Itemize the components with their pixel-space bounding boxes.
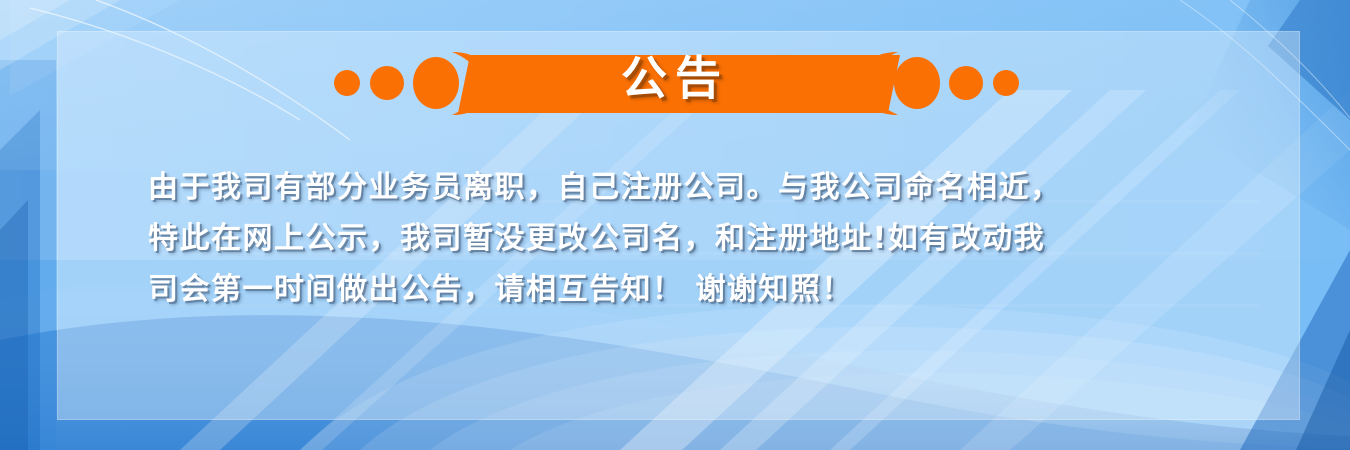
page-title: 公告 (0, 44, 1350, 124)
announcement-line: 由于我司有部分业务员离职，自己注册公司。与我公司命名相近， (148, 162, 1228, 213)
announcement-banner-image: 公告 由于我司有部分业务员离职，自己注册公司。与我公司命名相近， 特此在网上公示… (0, 0, 1350, 450)
announcement-line: 特此在网上公示，我司暂没更改公司名，和注册地址!如有改动我 (148, 213, 1228, 264)
announcement-body: 由于我司有部分业务员离职，自己注册公司。与我公司命名相近， 特此在网上公示，我司… (148, 162, 1228, 315)
announcement-line: 司会第一时间做出公告，请相互告知！ 谢谢知照！ (148, 264, 1228, 315)
